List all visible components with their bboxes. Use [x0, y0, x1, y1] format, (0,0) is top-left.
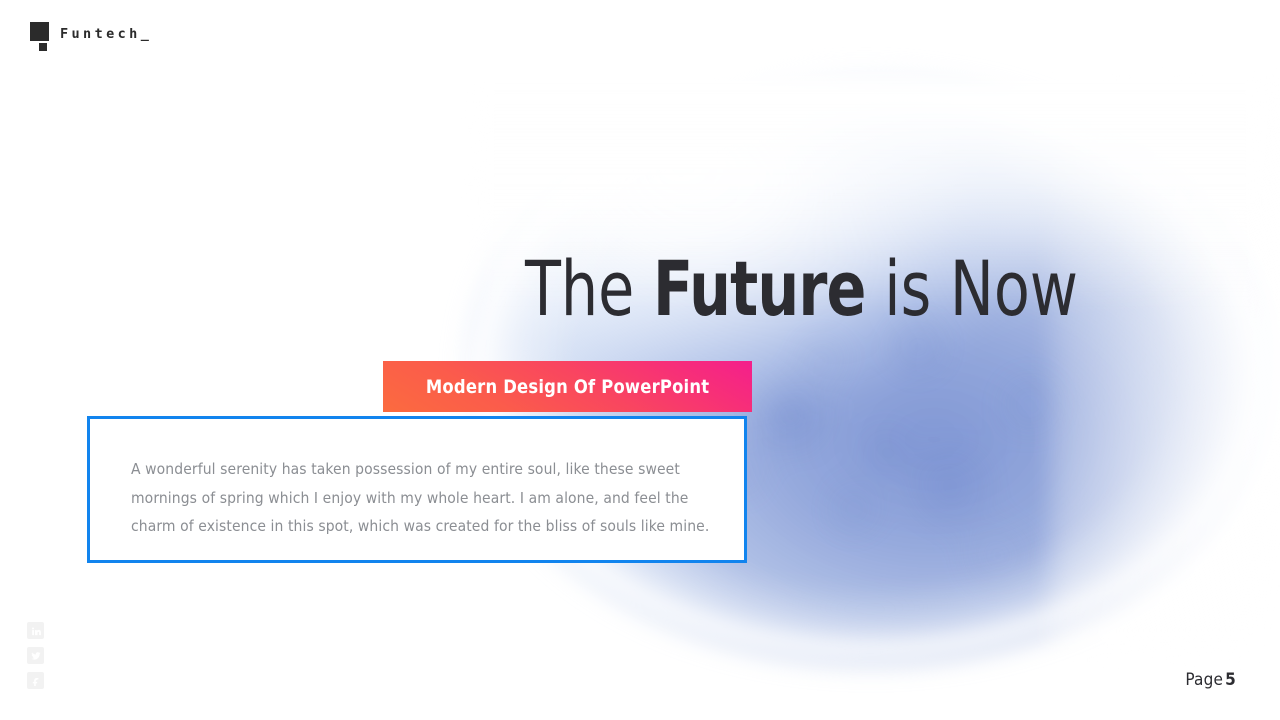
page-indicator: Page5	[1185, 670, 1236, 690]
page-number: 5	[1225, 670, 1236, 690]
title-part-emphasis: Future	[653, 244, 866, 333]
logo-square-small	[39, 43, 47, 51]
page-label: Page	[1185, 670, 1223, 690]
subtitle-banner: Modern Design Of PowerPoint	[383, 361, 752, 412]
social-links	[27, 622, 44, 689]
title-part-one: The	[525, 244, 653, 333]
presentation-slide: Funtech_ The Future is Now Modern Design…	[0, 0, 1280, 720]
title-part-three: is Now	[866, 244, 1078, 333]
body-text-card: A wonderful serenity has taken possessio…	[87, 416, 747, 563]
brand-logo[interactable]: Funtech_	[30, 22, 152, 54]
logo-square-large	[30, 22, 49, 41]
sphere-right-fade	[1050, 80, 1280, 660]
subtitle-banner-label: Modern Design Of PowerPoint	[426, 376, 709, 398]
brand-name: Funtech_	[60, 26, 152, 42]
linkedin-icon[interactable]	[27, 622, 44, 639]
body-paragraph: A wonderful serenity has taken possessio…	[131, 455, 721, 541]
twitter-icon[interactable]	[27, 647, 44, 664]
page-title: The Future is Now	[525, 243, 1078, 335]
facebook-icon[interactable]	[27, 672, 44, 689]
square-logo-icon	[30, 22, 56, 54]
